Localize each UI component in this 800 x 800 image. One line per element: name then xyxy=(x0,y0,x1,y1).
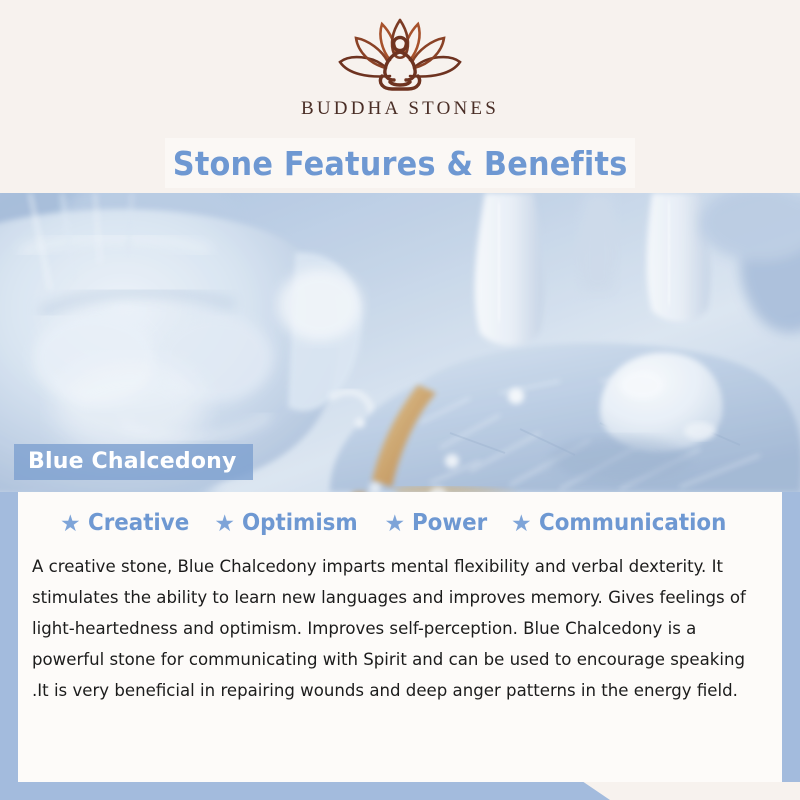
content-inner: ★ Creative ★ Optimism ★ Power ★ Communic… xyxy=(18,492,782,782)
frame-accent-left-bottom xyxy=(0,490,18,782)
lotus-meditation-icon xyxy=(334,16,466,96)
keyword-label: Creative xyxy=(88,510,189,536)
keyword-label: Communication xyxy=(539,510,726,536)
description-text: A creative stone, Blue Chalcedony impart… xyxy=(32,552,746,707)
header: BUDDHA STONES Stone Features & Benefits xyxy=(0,0,800,193)
star-icon: ★ xyxy=(384,512,405,535)
infographic-page: BUDDHA STONES Stone Features & Benefits xyxy=(0,0,800,800)
title-banner: Stone Features & Benefits xyxy=(165,138,635,188)
frame-accent-bottom xyxy=(0,781,610,800)
photo-caption: Blue Chalcedony xyxy=(14,444,253,480)
keyword-label: Power xyxy=(412,510,487,536)
keyword-item: ★ Communication xyxy=(511,510,740,536)
frame-accent-right-bottom xyxy=(782,490,800,782)
keyword-item: ★ Creative xyxy=(60,510,196,536)
content-card: ★ Creative ★ Optimism ★ Power ★ Communic… xyxy=(18,492,782,782)
keyword-item: ★ Power xyxy=(384,510,492,536)
star-icon: ★ xyxy=(214,512,235,535)
keyword-label: Optimism xyxy=(242,510,358,536)
star-icon: ★ xyxy=(511,512,532,535)
keyword-item: ★ Optimism xyxy=(214,510,366,536)
brand-name: BUDDHA STONES xyxy=(301,98,499,120)
keyword-list: ★ Creative ★ Optimism ★ Power ★ Communic… xyxy=(18,510,782,536)
stone-photo: Blue Chalcedony xyxy=(0,193,800,492)
page-title: Stone Features & Benefits xyxy=(173,144,628,183)
brand-logo: BUDDHA STONES xyxy=(0,16,800,138)
star-icon: ★ xyxy=(60,512,81,535)
